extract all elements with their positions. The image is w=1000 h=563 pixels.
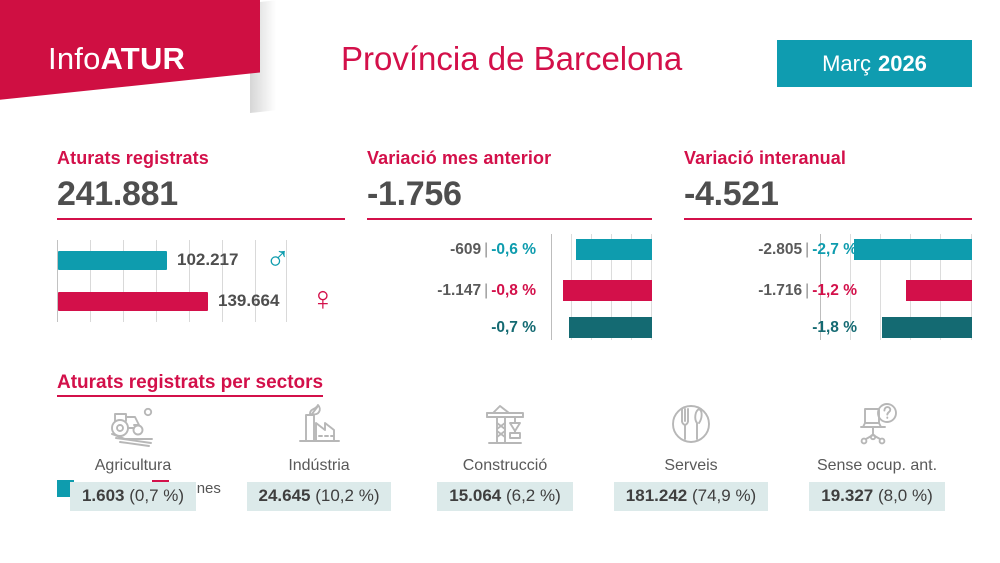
date-badge: Març 2026 — [777, 40, 972, 87]
variation-row: -1,8 % — [684, 317, 972, 343]
variation-abs-dones: -1.147 — [437, 282, 481, 299]
variation-separator: | — [484, 241, 488, 258]
panel-value-year-variation: -4.521 — [684, 175, 972, 214]
variation-abs-homes: -2.805 — [758, 241, 802, 258]
gender-bar-chart: 102.217 139.664 ♂ ♀ — [57, 234, 345, 330]
sector-percentage: (0,7 %) — [129, 486, 184, 505]
month-variation-bar-chart: -609|-0,6 % -1.147|-0,8 % -0,7 % — [367, 232, 652, 342]
sector-value-pill: 24.645 (10,2 %) — [247, 482, 392, 511]
bar-variation-homes — [854, 239, 972, 260]
variation-pct-total: -0,7 % — [491, 319, 536, 336]
bar-homes — [58, 251, 167, 270]
page-title: Província de Barcelona — [341, 40, 682, 78]
logo-text-info: Info — [48, 41, 101, 76]
sector-percentage: (6,2 %) — [506, 486, 561, 505]
panel-year-variation: Variació interanual -4.521 -2.805|-2,7 % — [684, 148, 972, 342]
sectors-section-title: Aturats registrats per sectors — [57, 372, 323, 397]
sector-value: 15.064 — [449, 486, 501, 505]
sector-item-sense-ocupacio: Sense ocup. ant. 19.327 (8,0 %) — [784, 396, 970, 511]
sector-percentage: (10,2 %) — [315, 486, 379, 505]
panel-title-registered: Aturats registrats — [57, 148, 345, 169]
variation-abs-dones: -1.716 — [758, 282, 802, 299]
sector-name: Sense ocup. ant. — [817, 457, 937, 475]
logo-text-atur: ATUR — [101, 41, 186, 76]
cutlery-icon — [666, 396, 716, 452]
office-chair-question-icon — [852, 396, 902, 452]
variation-row: -0,7 % — [367, 317, 652, 343]
sector-item-construccio: Construcció 15.064 (6,2 %) — [412, 396, 598, 511]
sector-name: Agricultura — [95, 457, 171, 475]
sector-item-agricultura: Agricultura 1.603 (0,7 %) — [40, 396, 226, 511]
panel-registered-unemployed: Aturats registrats 241.881 102.217 139.6… — [57, 148, 345, 330]
variation-labels: -2.805|-2,7 % — [758, 241, 857, 259]
bar-variation-homes — [576, 239, 652, 260]
panel-divider — [57, 218, 345, 220]
bar-value-dones: 139.664 — [218, 291, 279, 311]
bar-variation-dones — [906, 280, 972, 301]
variation-pct-dones: -0,8 % — [491, 282, 536, 299]
sector-value: 24.645 — [259, 486, 311, 505]
sector-percentage: (8,0 %) — [878, 486, 933, 505]
variation-separator: | — [484, 282, 488, 299]
sector-value-pill: 1.603 (0,7 %) — [70, 482, 196, 511]
variation-pct-homes: -2,7 % — [812, 241, 857, 258]
panel-divider — [367, 218, 652, 220]
factory-icon — [292, 396, 346, 452]
variation-labels: -0,7 % — [491, 319, 536, 337]
bar-variation-total — [882, 317, 972, 338]
sector-name: Serveis — [664, 457, 717, 475]
variation-separator: | — [805, 282, 809, 299]
variation-labels: -609|-0,6 % — [450, 241, 536, 259]
sector-name: Indústria — [288, 457, 349, 475]
female-symbol-icon: ♀ — [310, 282, 336, 316]
sector-value-pill: 19.327 (8,0 %) — [809, 482, 945, 511]
bar-variation-dones — [563, 280, 652, 301]
variation-labels: -1,8 % — [812, 319, 857, 337]
variation-separator: | — [805, 241, 809, 258]
sector-value-pill: 15.064 (6,2 %) — [437, 482, 573, 511]
sector-item-industria: Indústria 24.645 (10,2 %) — [226, 396, 412, 511]
sector-item-serveis: Serveis 181.242 (74,9 %) — [598, 396, 784, 511]
variation-row: -609|-0,6 % — [367, 238, 652, 264]
variation-row: -2.805|-2,7 % — [684, 238, 972, 264]
tractor-icon — [105, 396, 161, 452]
variation-pct-homes: -0,6 % — [491, 241, 536, 258]
variation-pct-dones: -1,2 % — [812, 282, 857, 299]
variation-row: -1.716|-1,2 % — [684, 279, 972, 305]
bar-variation-total — [569, 317, 652, 338]
male-symbol-icon: ♂ — [265, 242, 291, 276]
bar-value-homes: 102.217 — [177, 250, 238, 270]
panel-month-variation: Variació mes anterior -1.756 -609|-0,6 % — [367, 148, 652, 342]
sectors-row: Agricultura 1.603 (0,7 %) Indústria 24.6 — [40, 396, 970, 511]
year-variation-bar-chart: -2.805|-2,7 % -1.716|-1,2 % -1,8 % — [684, 232, 972, 342]
panel-value-registered: 241.881 — [57, 175, 345, 214]
crane-icon — [479, 396, 531, 452]
sector-name: Construcció — [463, 457, 547, 475]
bar-dones — [58, 292, 208, 311]
infographic-canvas: InfoATUR Província de Barcelona Març 202… — [0, 0, 1000, 563]
panel-title-year-variation: Variació interanual — [684, 148, 972, 169]
sector-percentage: (74,9 %) — [692, 486, 756, 505]
variation-abs-homes: -609 — [450, 241, 481, 258]
logo-text: InfoATUR — [48, 41, 185, 77]
date-year: 2026 — [878, 51, 927, 77]
variation-labels: -1.716|-1,2 % — [758, 282, 857, 300]
sector-value: 1.603 — [82, 486, 125, 505]
sector-value-pill: 181.242 (74,9 %) — [614, 482, 768, 511]
panel-value-month-variation: -1.756 — [367, 175, 652, 214]
sector-value: 181.242 — [626, 486, 687, 505]
variation-pct-total: -1,8 % — [812, 319, 857, 336]
sector-value: 19.327 — [821, 486, 873, 505]
variation-labels: -1.147|-0,8 % — [437, 282, 536, 300]
panel-divider — [684, 218, 972, 220]
date-month: Març — [822, 51, 871, 77]
panel-title-month-variation: Variació mes anterior — [367, 148, 652, 169]
variation-row: -1.147|-0,8 % — [367, 279, 652, 305]
